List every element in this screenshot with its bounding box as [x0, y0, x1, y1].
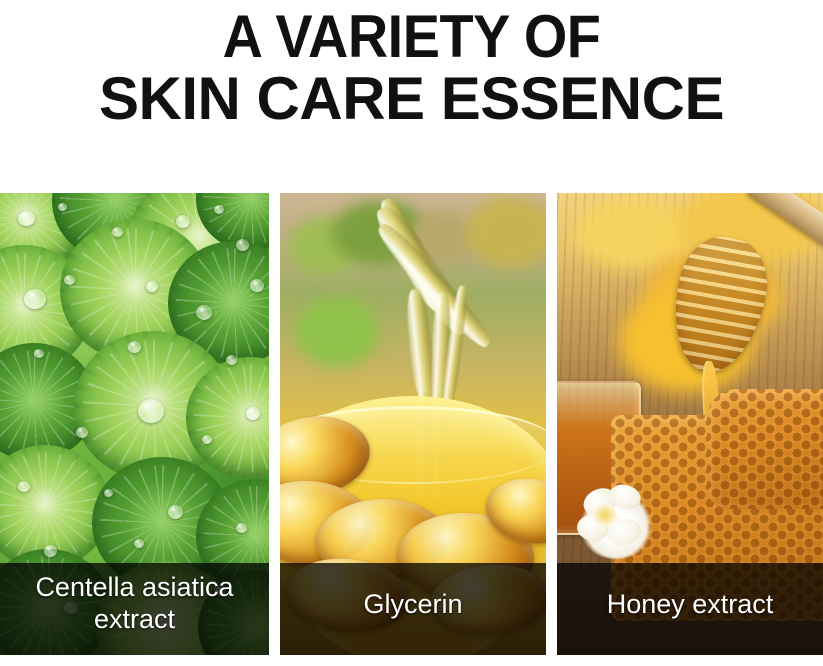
- caption-honey: Honey extract: [607, 588, 774, 620]
- caption-bar-glycerin: Glycerin: [280, 563, 546, 655]
- ingredient-panel-honey: Honey extract: [557, 193, 823, 655]
- product-ingredient-poster: A VARIETY OF SKIN CARE ESSENCE: [0, 0, 823, 666]
- caption-centella: Centella asiatica extract: [35, 571, 233, 637]
- caption-bar-centella: Centella asiatica extract: [0, 563, 269, 655]
- ingredient-panel-centella: Centella asiatica extract: [0, 193, 269, 655]
- caption-centella-line-1: Centella asiatica: [35, 572, 233, 602]
- heading-line-2: SKIN CARE ESSENCE: [0, 68, 823, 130]
- caption-centella-line-2: extract: [94, 604, 175, 634]
- ingredient-panel-glycerin: Glycerin: [280, 193, 546, 655]
- poster-heading: A VARIETY OF SKIN CARE ESSENCE: [0, 0, 823, 130]
- caption-glycerin: Glycerin: [363, 588, 462, 620]
- caption-bar-honey: Honey extract: [557, 563, 823, 655]
- ingredient-panel-strip: Centella asiatica extract: [0, 193, 823, 655]
- heading-line-1: A VARIETY OF: [29, 6, 794, 68]
